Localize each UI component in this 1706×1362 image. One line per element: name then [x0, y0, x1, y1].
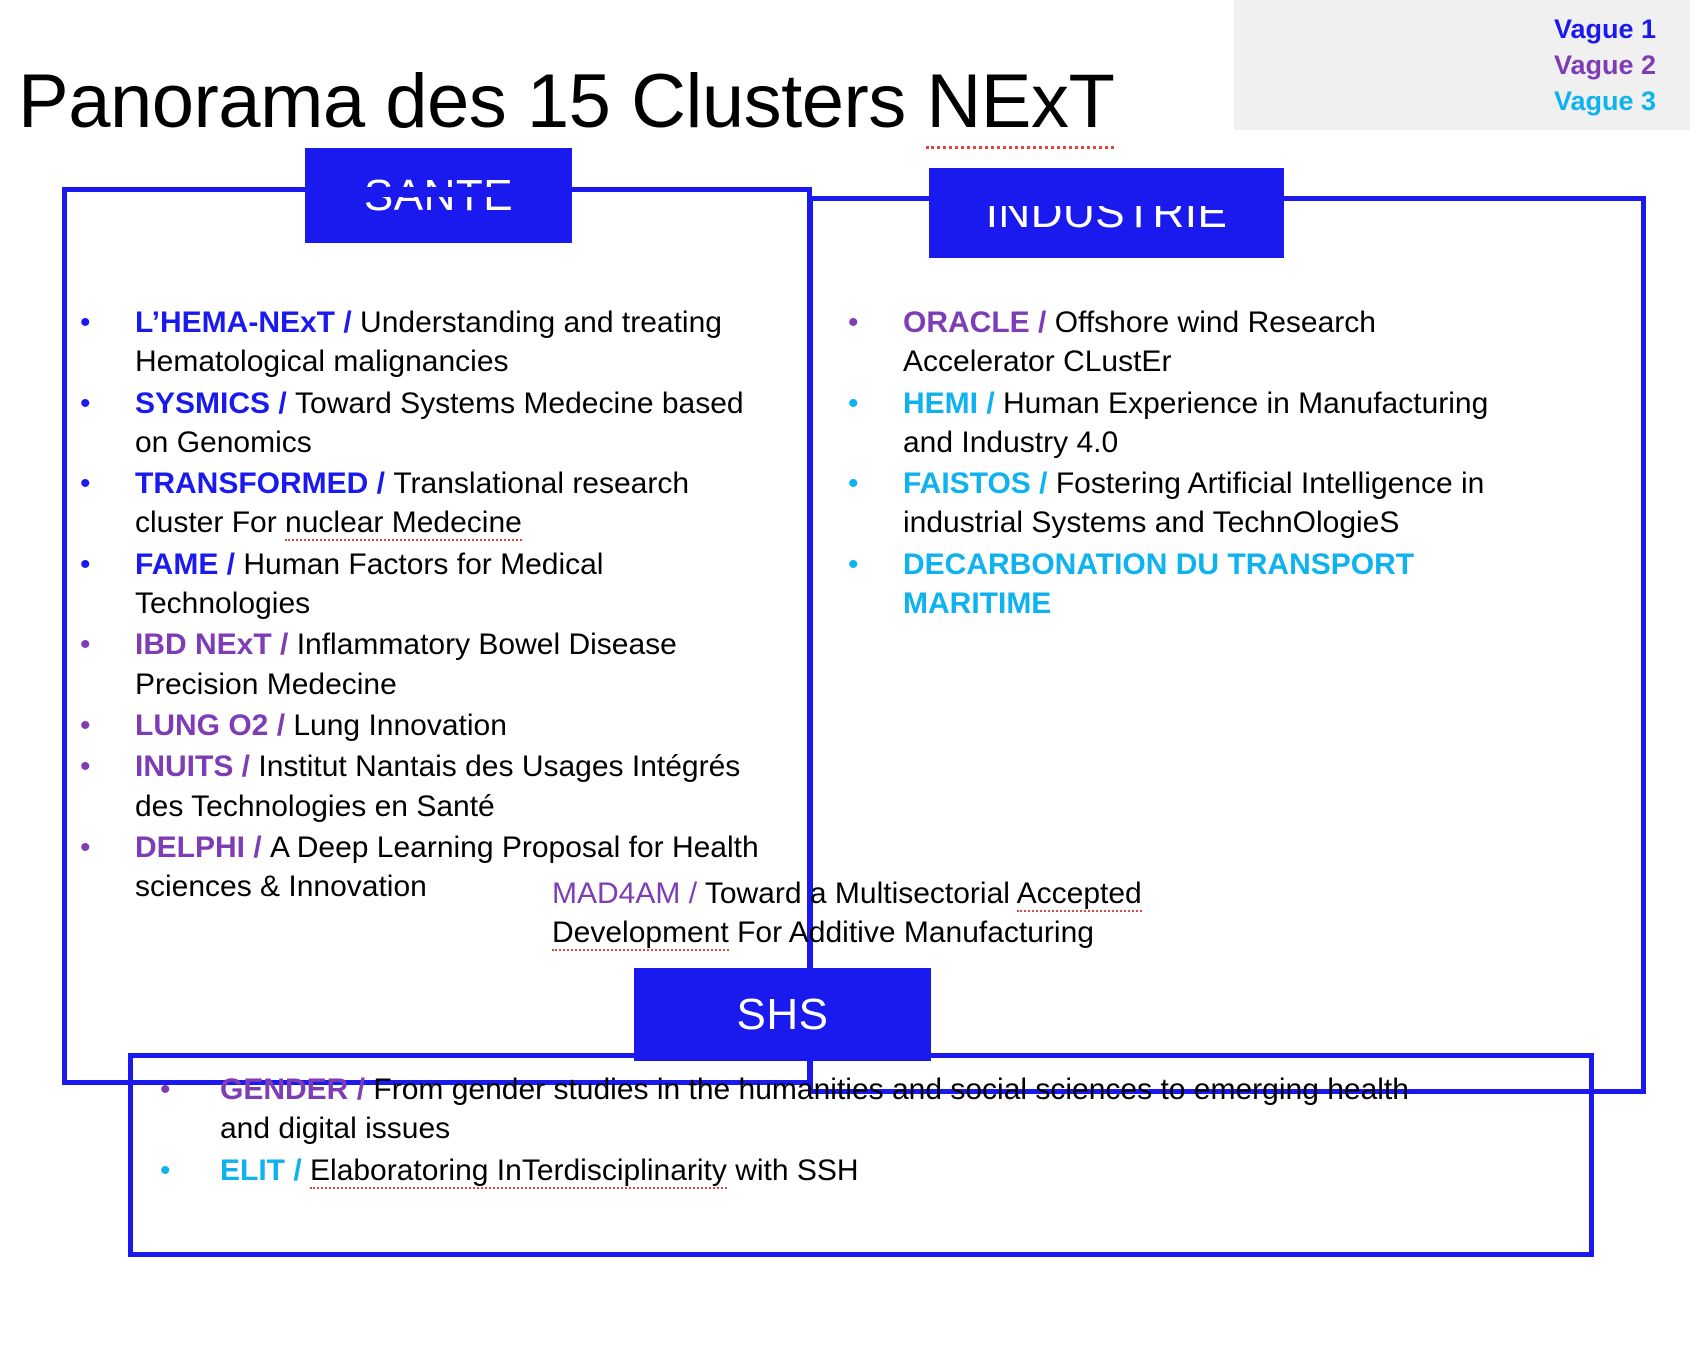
cluster-description: From gender studies in the humanities an… [220, 1073, 1409, 1145]
list-item: •FAISTOS / Fostering Artificial Intellig… [838, 464, 1498, 543]
shs-header-label: SHS [737, 990, 829, 1040]
page-title-plain: Panorama des 15 Clusters [18, 59, 926, 144]
bullet-icon: • [80, 625, 91, 664]
cluster-acronym: LUNG O2 [135, 709, 268, 742]
cluster-acronym: FAISTOS [903, 467, 1031, 500]
cluster-acronym: GENDER [220, 1073, 348, 1106]
shs-cluster-list: •GENDER / From gender studies in the hum… [150, 1070, 1450, 1192]
cluster-separator: / [1030, 306, 1055, 339]
chip-overlap-mask [305, 187, 572, 197]
cluster-acronym: ORACLE [903, 306, 1030, 339]
bullet-icon: • [848, 464, 859, 503]
cluster-separator: / [268, 709, 293, 742]
bullet-icon: • [80, 303, 91, 342]
list-item: •DECARBONATION DU TRANSPORT MARITIME [838, 545, 1498, 624]
list-item: •FAME / Human Factors for Medical Techno… [70, 545, 770, 624]
cluster-acronym: TRANSFORMED [135, 467, 368, 500]
bullet-icon: • [848, 384, 859, 423]
cluster-separator: / [368, 467, 393, 500]
cluster-acronym: L’HEMA-NExT [135, 306, 335, 339]
list-item: •HEMI / Human Experience in Manufacturin… [838, 384, 1498, 463]
cluster-separator: / [1031, 467, 1056, 500]
list-item: •GENDER / From gender studies in the hum… [150, 1070, 1450, 1149]
legend-item-vague-3: Vague 3 [1234, 84, 1656, 120]
bullet-icon: • [80, 747, 91, 786]
cluster-acronym: DELPHI [135, 831, 245, 864]
bullet-icon: • [80, 464, 91, 503]
bullet-icon: • [80, 384, 91, 423]
cluster-description-tail: For Additive Manufacturing [729, 916, 1094, 949]
cluster-description: Lung Innovation [293, 709, 507, 742]
cluster-acronym: MAD4AM [552, 877, 680, 910]
industrie-header-chip: INDUSTRIE [929, 168, 1284, 258]
cluster-separator: / [233, 750, 258, 783]
cluster-separator: / [680, 877, 704, 910]
list-item: •IBD NExT / Inflammatory Bowel Disease P… [70, 625, 770, 704]
cluster-acronym: DECARBONATION DU TRANSPORT MARITIME [903, 548, 1414, 620]
chip-overlap-mask [929, 196, 1284, 206]
list-item: •SYSMICS / Toward Systems Medecine based… [70, 384, 770, 463]
bullet-icon: • [160, 1151, 171, 1190]
cluster-separator: / [245, 831, 270, 864]
slide-canvas: Panorama des 15 Clusters NExT Vague 1 Va… [0, 0, 1706, 1362]
list-item: •INUITS / Institut Nantais des Usages In… [70, 747, 770, 826]
legend-item-vague-2: Vague 2 [1234, 48, 1656, 84]
list-item: •ORACLE / Offshore wind Research Acceler… [838, 303, 1498, 382]
chip-overlap-mask [634, 1048, 931, 1060]
bullet-icon: • [160, 1070, 171, 1109]
page-title-flagged: NExT [926, 59, 1114, 149]
legend-box: Vague 1 Vague 2 Vague 3 [1234, 0, 1690, 130]
bullet-icon: • [848, 545, 859, 584]
cluster-acronym: SYSMICS [135, 387, 270, 420]
cluster-acronym: ELIT [220, 1154, 285, 1187]
cluster-description-tail: with SSH [727, 1154, 859, 1187]
list-item: •LUNG O2 / Lung Innovation [70, 706, 770, 745]
cluster-separator: / [348, 1073, 373, 1106]
cluster-separator: / [272, 628, 297, 661]
cluster-separator: / [978, 387, 1003, 420]
list-item: •ELIT / Elaboratoring InTerdisciplinarit… [150, 1151, 1450, 1190]
cluster-description: Toward a Multisectorial [705, 877, 1017, 910]
cluster-description-flagged: Elaboratoring InTerdisciplinarity [310, 1154, 727, 1189]
cluster-separator: / [335, 306, 360, 339]
bullet-icon: • [848, 303, 859, 342]
sante-cluster-list: •L’HEMA-NExT / Understanding and treatin… [70, 303, 770, 908]
list-item: •L’HEMA-NExT / Understanding and treatin… [70, 303, 770, 382]
legend-item-vague-1: Vague 1 [1234, 12, 1656, 48]
cluster-acronym: INUITS [135, 750, 233, 783]
list-item: •TRANSFORMED / Translational research cl… [70, 464, 770, 543]
bullet-icon: • [80, 828, 91, 867]
cluster-acronym: HEMI [903, 387, 978, 420]
cluster-description-flagged: nuclear Medecine [285, 506, 522, 541]
cluster-separator: / [285, 1154, 310, 1187]
cluster-separator: / [270, 387, 295, 420]
mad4am-cluster-entry: MAD4AM / Toward a Multisectorial Accepte… [552, 874, 1212, 953]
cluster-acronym: IBD NExT [135, 628, 272, 661]
cluster-acronym: FAME [135, 548, 218, 581]
page-title: Panorama des 15 Clusters NExT [18, 58, 1114, 145]
cluster-separator: / [218, 548, 243, 581]
bullet-icon: • [80, 706, 91, 745]
industrie-cluster-list: •ORACLE / Offshore wind Research Acceler… [838, 303, 1498, 625]
bullet-icon: • [80, 545, 91, 584]
